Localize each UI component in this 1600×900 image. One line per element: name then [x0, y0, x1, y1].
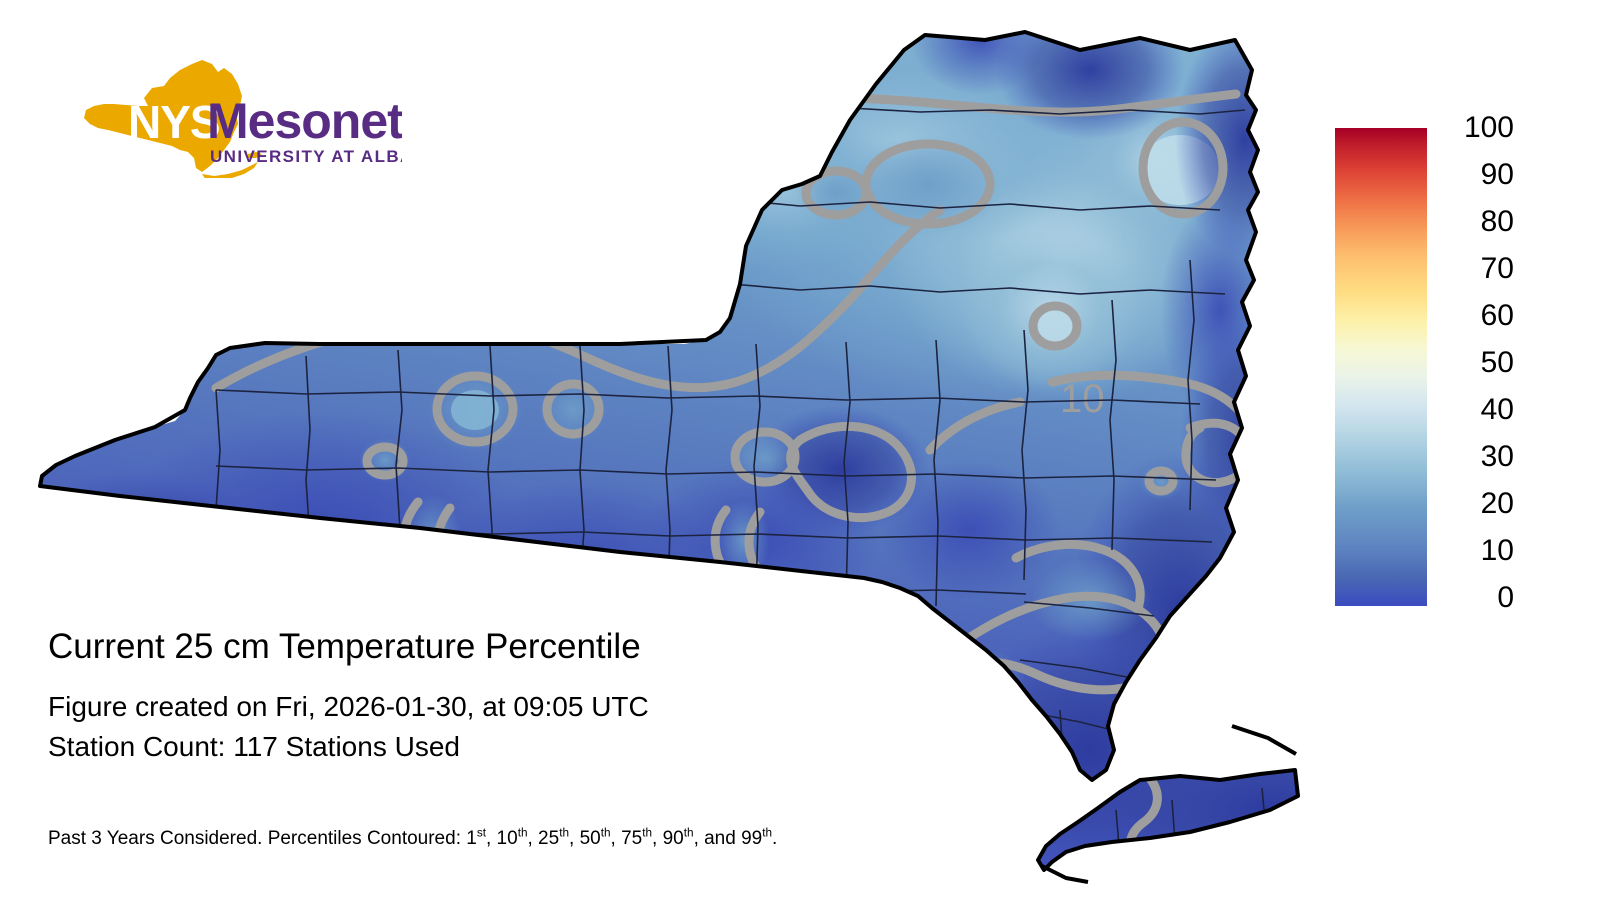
colorbar-gradient — [1335, 128, 1427, 606]
colorbar-tick-10: 10 — [1430, 536, 1514, 566]
colorbar-tick-100: 100 — [1430, 113, 1514, 143]
colorbar-tick-30: 30 — [1430, 442, 1514, 472]
station-count-text: Station Count: 117 Stations Used — [48, 727, 1048, 767]
contour-label-10: 10 — [1054, 370, 1112, 421]
colorbar-tick-20: 20 — [1430, 489, 1514, 519]
colorbar-tick-50: 50 — [1430, 348, 1514, 378]
colorbar-tick-80: 80 — [1430, 207, 1514, 237]
colorbar-tick-0: 0 — [1430, 583, 1514, 613]
colorbar-tick-90: 90 — [1430, 160, 1514, 190]
colorbar-tick-60: 60 — [1430, 301, 1514, 331]
figure-created-text: Figure created on Fri, 2026-01-30, at 09… — [48, 687, 1048, 727]
contour-label-10-text: 10 — [1060, 377, 1105, 421]
figure-caption-block: Current 25 cm Temperature Percentile Fig… — [48, 625, 1048, 767]
figure-footnote: Past 3 Years Considered. Percentiles Con… — [48, 826, 777, 852]
colorbar-tick-70: 70 — [1430, 254, 1514, 284]
percentile-colorbar: 100 90 80 70 60 50 40 30 20 10 0 — [1330, 120, 1580, 620]
colorbar-tick-40: 40 — [1430, 395, 1514, 425]
page-title: Current 25 cm Temperature Percentile — [48, 625, 1048, 669]
